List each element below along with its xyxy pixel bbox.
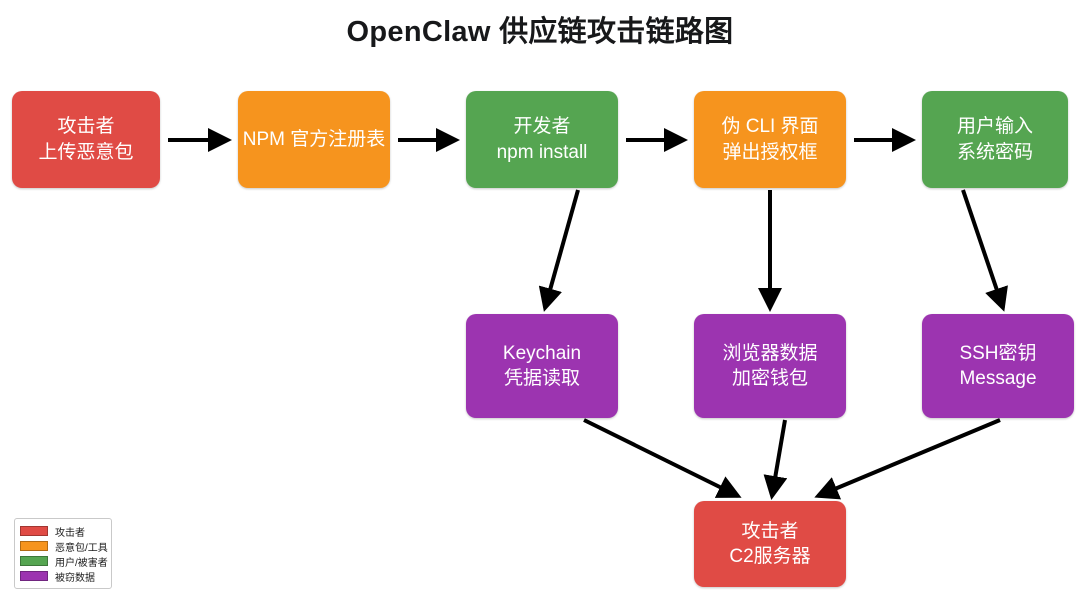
- legend-label: 攻击者: [55, 524, 85, 539]
- legend-label: 被窃数据: [55, 569, 95, 584]
- node-label-primary: 伪 CLI 界面: [721, 114, 818, 139]
- node-ssh-message[interactable]: SSH密钥Message: [922, 314, 1074, 418]
- node-label-primary: 浏览器数据: [722, 341, 817, 366]
- node-npm-registry[interactable]: NPM 官方注册表: [238, 91, 390, 188]
- edge-keychain-to-c2-server: [584, 420, 738, 496]
- diagram-canvas: OpenClaw 供应链攻击链路图 攻击者上传恶意包NPM 官方注册表开发者np…: [0, 0, 1080, 605]
- node-label-primary: 开发者: [513, 114, 570, 139]
- node-label-primary: 攻击者: [741, 519, 798, 544]
- legend-item: 被窃数据: [20, 569, 106, 583]
- node-label-secondary: 系统密码: [957, 140, 1033, 165]
- node-label-primary: NPM 官方注册表: [243, 127, 386, 152]
- legend-item: 恶意包/工具: [20, 539, 106, 553]
- legend-swatch-icon: [20, 571, 48, 581]
- node-label-secondary: 加密钱包: [732, 366, 808, 391]
- node-label-secondary: 上传恶意包: [38, 140, 133, 165]
- node-user-password[interactable]: 用户输入系统密码: [922, 91, 1068, 188]
- legend-label: 恶意包/工具: [55, 539, 108, 554]
- node-label-secondary: C2服务器: [729, 544, 810, 569]
- node-c2-server[interactable]: 攻击者C2服务器: [694, 501, 846, 587]
- node-label-primary: 攻击者: [57, 114, 114, 139]
- node-fake-cli[interactable]: 伪 CLI 界面弹出授权框: [694, 91, 846, 188]
- node-label-secondary: 弹出授权框: [722, 140, 817, 165]
- edge-browser-wallet-to-c2-server: [772, 420, 785, 496]
- node-label-secondary: 凭据读取: [504, 366, 580, 391]
- node-label-secondary: Message: [959, 366, 1036, 391]
- legend: 攻击者恶意包/工具用户/被害者被窃数据: [14, 518, 112, 589]
- legend-swatch-icon: [20, 526, 48, 536]
- edge-ssh-message-to-c2-server: [818, 420, 1000, 496]
- node-keychain[interactable]: Keychain凭据读取: [466, 314, 618, 418]
- node-label-primary: Keychain: [503, 341, 581, 366]
- edge-user-password-to-ssh-message: [963, 190, 1003, 308]
- page-title: OpenClaw 供应链攻击链路图: [0, 8, 1080, 50]
- node-label-secondary: npm install: [497, 140, 588, 165]
- node-label-primary: SSH密钥: [959, 341, 1036, 366]
- node-label-primary: 用户输入: [957, 114, 1033, 139]
- legend-label: 用户/被害者: [55, 554, 108, 569]
- node-developer[interactable]: 开发者npm install: [466, 91, 618, 188]
- node-browser-wallet[interactable]: 浏览器数据加密钱包: [694, 314, 846, 418]
- edge-developer-to-keychain: [545, 190, 578, 308]
- legend-item: 攻击者: [20, 524, 106, 538]
- node-attacker-upload[interactable]: 攻击者上传恶意包: [12, 91, 160, 188]
- legend-item: 用户/被害者: [20, 554, 106, 568]
- legend-swatch-icon: [20, 556, 48, 566]
- legend-swatch-icon: [20, 541, 48, 551]
